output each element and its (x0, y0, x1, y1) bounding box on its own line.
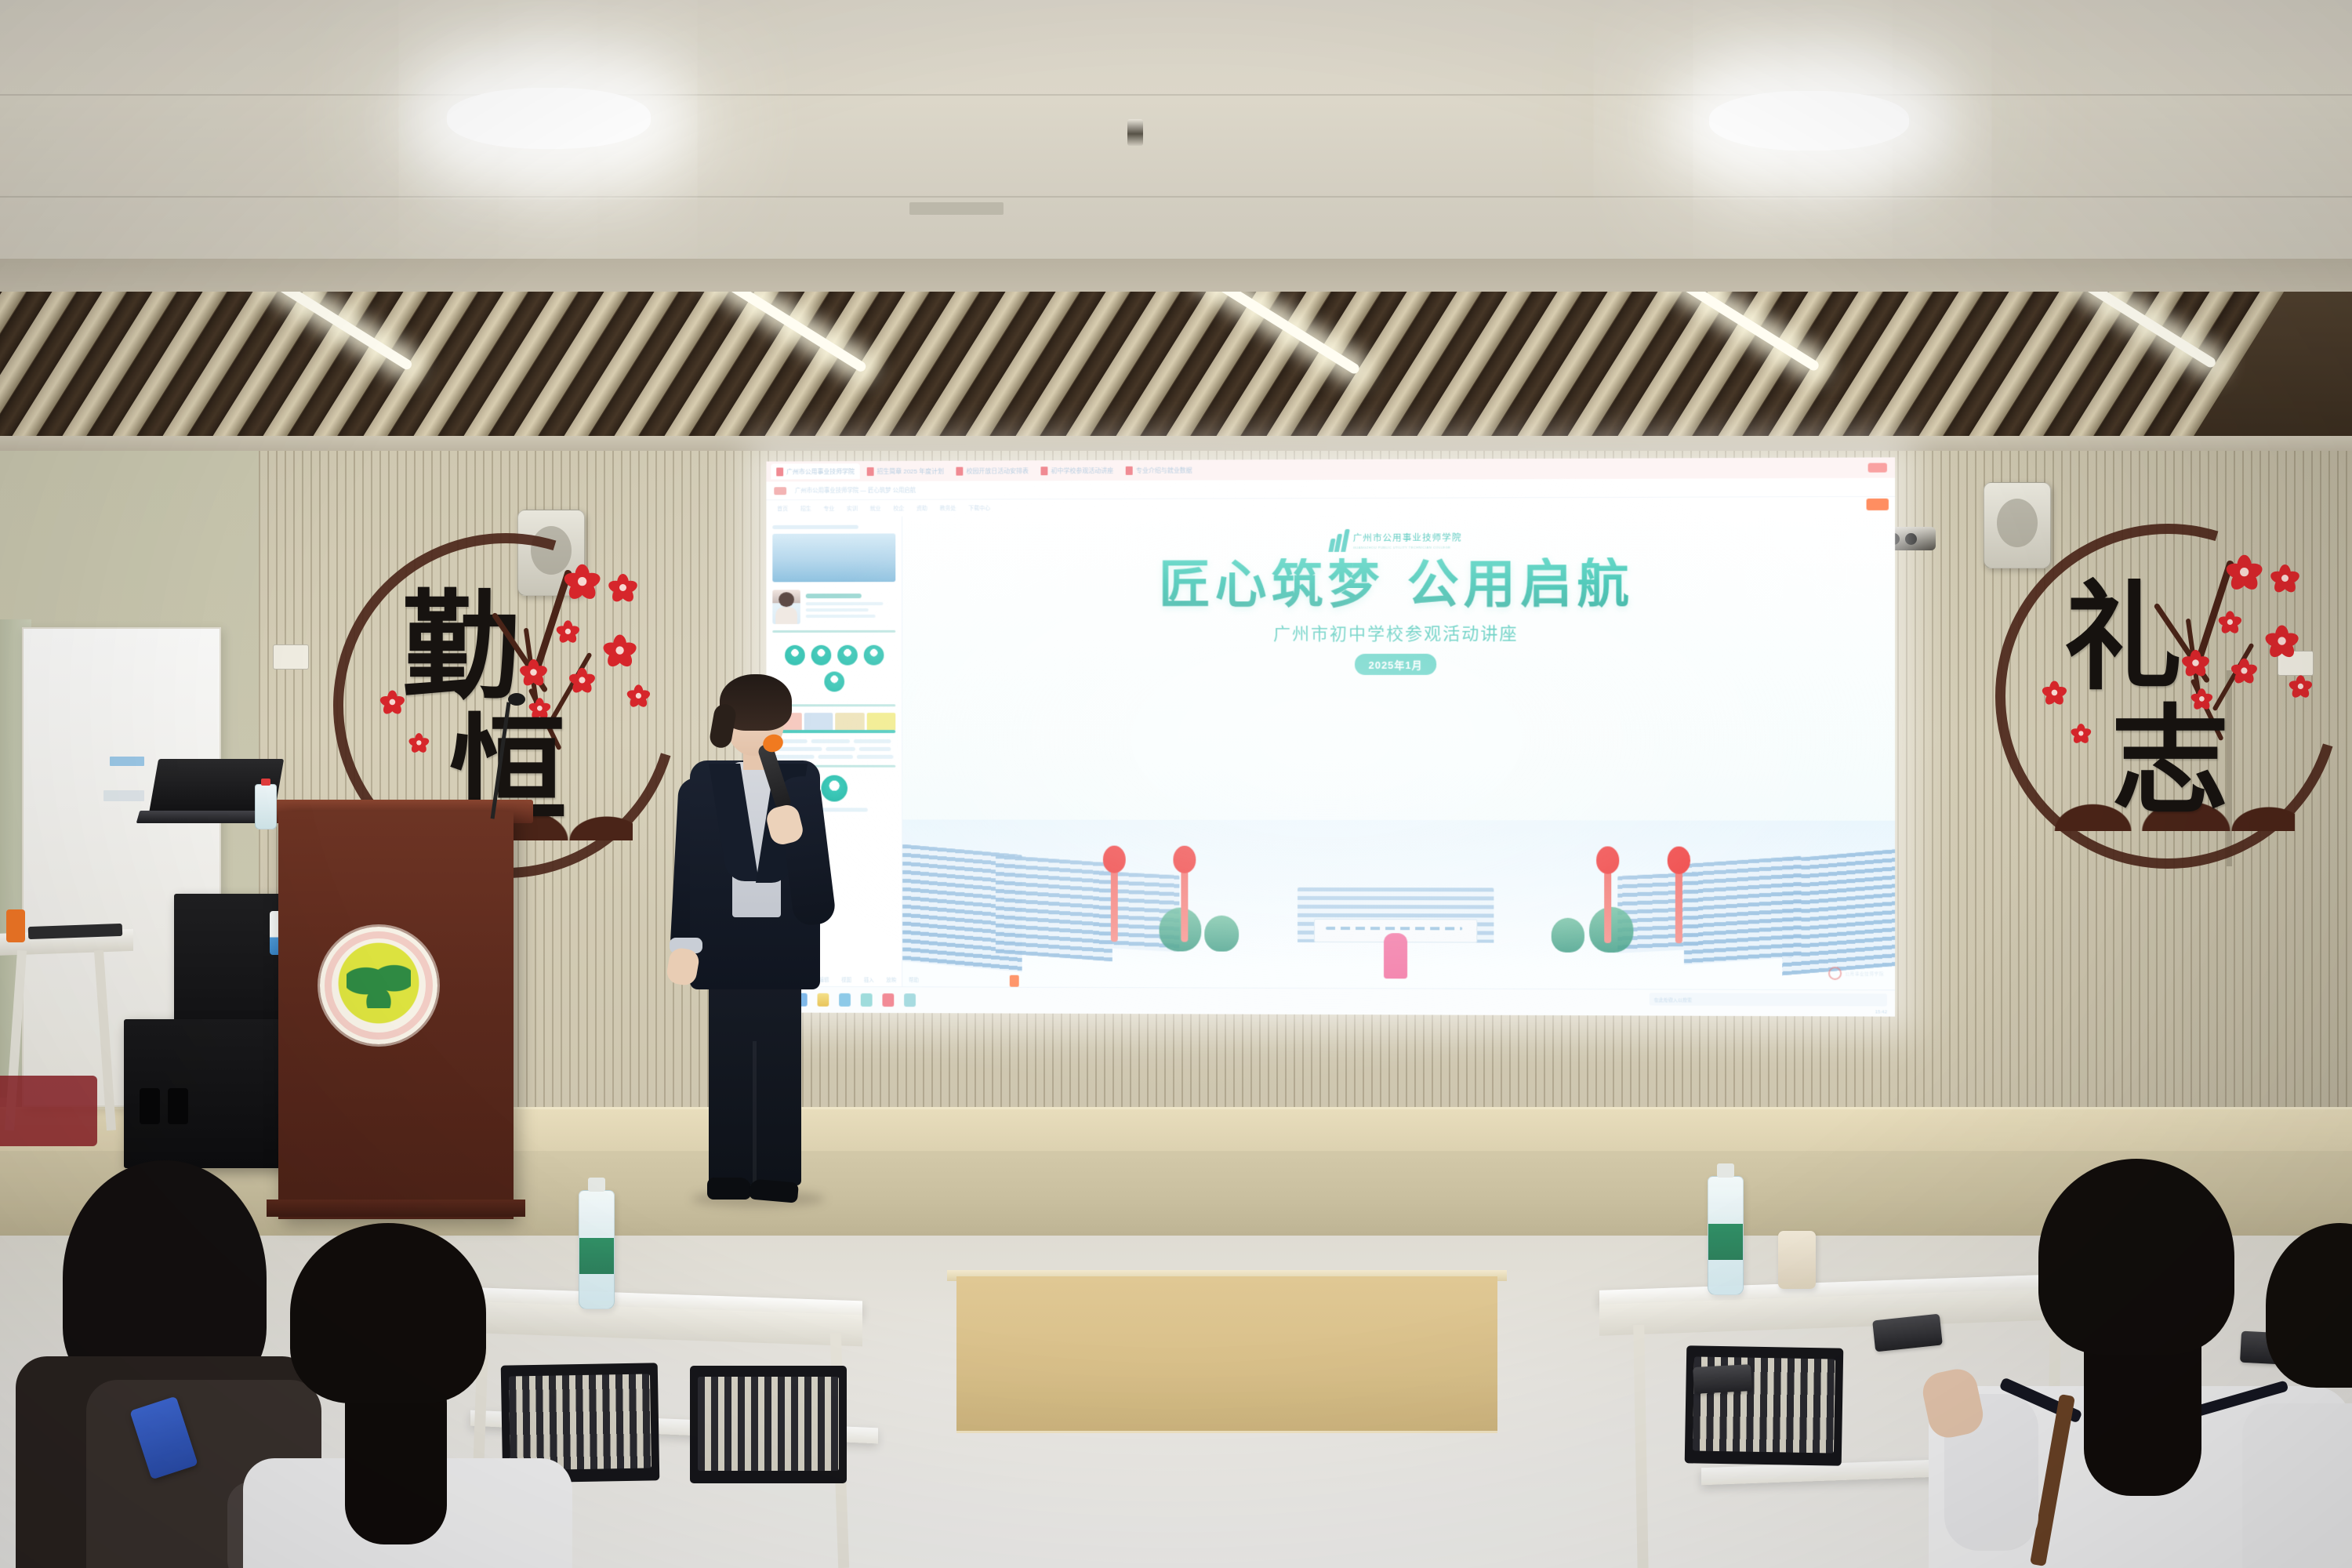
water-bottle (255, 784, 277, 829)
menu-item[interactable]: 帮助 (909, 975, 919, 983)
address-bar-text: 广州市公用事业技师学院 — 匠心筑梦 公用启航 (795, 486, 916, 495)
bookmark-item[interactable]: 就业 (870, 504, 881, 512)
bookmark-badge[interactable] (1867, 499, 1889, 510)
app-icon-cloud[interactable] (861, 993, 873, 1007)
profile-chip[interactable] (1868, 463, 1887, 472)
bookmark-item[interactable]: 首页 (777, 505, 788, 513)
ceiling-vent (909, 202, 1004, 215)
whiteboard-note (110, 757, 144, 766)
menu-item[interactable]: 插入 (864, 975, 874, 983)
logo-chinese-name: 广州市公用事业技师学院 (1353, 532, 1462, 544)
calligraphy-glyph: 勤 (402, 588, 520, 706)
presenter (651, 673, 847, 1221)
slide-title: 匠心筑梦 公用启航 (1159, 557, 1634, 612)
red-bag (0, 1076, 97, 1146)
slide-watermark: 公用事业技师学院 (1828, 967, 1884, 980)
page-content: 广州市公用事业技师学院 GUANGZHOU PUBLIC UTILITY TEC… (766, 514, 1895, 989)
wall-calligraphy-right: 礼 志 (1995, 524, 2340, 869)
favicon-icon (1126, 466, 1133, 474)
slat-grille (0, 292, 2352, 437)
ceiling-light (1709, 91, 1909, 151)
sidebar-banner-photo (772, 533, 895, 582)
browser-tab-label: 初中学校参观活动讲座 (1051, 466, 1113, 474)
slide-subtitle: 广州市初中学校参观活动讲座 (1273, 620, 1518, 645)
slide-date-badge: 2025年1月 (1355, 654, 1436, 675)
shoe (707, 1178, 751, 1200)
campus-photo: 公用事业技师学院 (902, 819, 1895, 989)
school-emblem (320, 927, 437, 1044)
feature-icon[interactable] (811, 645, 831, 666)
audience-chair (690, 1366, 847, 1483)
browser-tab-label: 专业介绍与就业数据 (1136, 466, 1192, 474)
paper-cup (1778, 1231, 1816, 1289)
lecture-hall-photo: 勤 恒 礼 志 广州市公用事业技师学院招生简章 2025 年度计划校园开放日活动… (0, 0, 2352, 1568)
shoe (749, 1178, 799, 1203)
podium-base (267, 1200, 525, 1217)
stage-step (956, 1276, 1497, 1433)
speaker-port (140, 1088, 160, 1124)
water-bottle (1708, 1176, 1744, 1295)
favicon-icon (956, 466, 964, 475)
search-input[interactable]: 在此处键入以搜索 (1650, 993, 1887, 1006)
bookmark-item[interactable]: 专业 (823, 504, 834, 512)
tabstrip-actions[interactable] (1868, 463, 1890, 472)
profile-card[interactable] (772, 590, 895, 624)
bookmark-item[interactable]: 招生 (800, 504, 811, 512)
campus-figure (1384, 933, 1407, 978)
calligraphy-glyph: 志 (2111, 702, 2229, 820)
favicon-icon (867, 467, 874, 476)
whiteboard-note (103, 790, 144, 801)
bookmark-item[interactable]: 教务处 (940, 504, 956, 512)
slide-viewport: 广州市公用事业技师学院 GUANGZHOU PUBLIC UTILITY TEC… (902, 514, 1895, 989)
water-bottle (579, 1190, 615, 1309)
bookmark-item[interactable]: 下载中心 (968, 504, 990, 512)
projection-screen[interactable]: 广州市公用事业技师学院招生简章 2025 年度计划校园开放日活动安排表初中学校参… (766, 457, 1895, 1016)
avatar (772, 590, 800, 624)
logo-english-name: GUANGZHOU PUBLIC UTILITY TECHNICIAN COLL… (1353, 546, 1462, 550)
feature-icon[interactable] (785, 645, 805, 666)
site-logo-icon (774, 487, 786, 495)
browser-tab[interactable]: 校园开放日活动安排表 (951, 463, 1034, 478)
browser-tab[interactable]: 广州市公用事业技师学院 (771, 463, 859, 479)
audience-chair (1685, 1345, 1844, 1465)
ceiling-light (447, 88, 651, 149)
browser-window[interactable]: 广州市公用事业技师学院招生简章 2025 年度计划校园开放日活动安排表初中学校参… (766, 457, 1895, 1016)
logo-mark-icon (1330, 529, 1348, 552)
browser-tab[interactable]: 初中学校参观活动讲座 (1036, 463, 1119, 478)
feature-icon[interactable] (863, 645, 884, 666)
clock: 15:42 (1875, 1010, 1887, 1014)
school-logo: 广州市公用事业技师学院 GUANGZHOU PUBLIC UTILITY TEC… (1330, 529, 1462, 552)
menu-item[interactable]: 放映 (886, 975, 896, 983)
speaker-port (168, 1088, 188, 1124)
favicon-icon (776, 467, 783, 476)
browser-tab-label: 广州市公用事业技师学院 (786, 467, 855, 476)
bookmark-item[interactable]: 校企 (893, 504, 904, 512)
feature-icon[interactable] (837, 645, 858, 666)
browser-tab-label: 招生简章 2025 年度计划 (877, 466, 944, 475)
wall-outlet (273, 644, 309, 670)
audience-member (235, 1223, 564, 1568)
bookmark-item[interactable]: 资助 (916, 504, 927, 512)
favicon-icon (1041, 466, 1048, 475)
browser-tab-label: 校园开放日活动安排表 (967, 466, 1029, 475)
presentation-slide: 广州市公用事业技师学院 GUANGZHOU PUBLIC UTILITY TEC… (902, 514, 1895, 989)
microphone-head-icon (508, 693, 525, 706)
app-icon-folder[interactable] (904, 993, 916, 1007)
app-icon-wps[interactable] (882, 993, 894, 1007)
bookmark-item[interactable]: 实训 (847, 504, 858, 512)
calligraphy-glyph: 礼 (2064, 579, 2182, 696)
orange-tool (6, 909, 25, 942)
smartphone[interactable] (1693, 1364, 1752, 1394)
taskbar[interactable]: 开始文件编辑视图插入放映帮助 在此处键入以搜索 15:42 (766, 986, 1895, 1017)
browser-tab[interactable]: 招生简章 2025 年度计划 (862, 463, 949, 479)
pin-icon[interactable] (1010, 975, 1019, 987)
browser-tab[interactable]: 专业介绍与就业数据 (1120, 463, 1198, 478)
ceiling-sensor-icon (1127, 119, 1143, 146)
audience-member (2258, 1223, 2352, 1568)
